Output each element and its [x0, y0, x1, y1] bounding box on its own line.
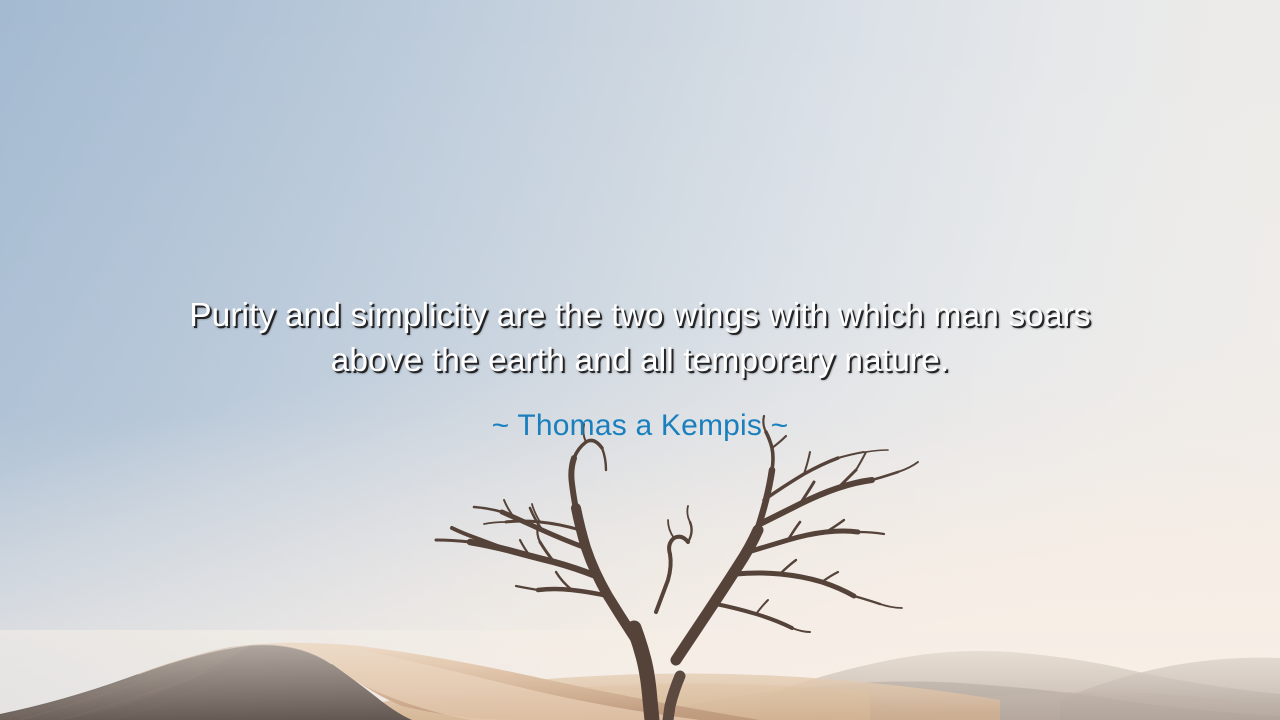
quote-wallpaper: Purity and simplicity are the two wings … — [0, 0, 1280, 720]
quote-attribution: ~ Thomas a Kempis ~ — [0, 406, 1280, 446]
quote-text-block: Purity and simplicity are the two wings … — [0, 293, 1280, 383]
quote-line-1: Purity and simplicity are the two wings … — [0, 293, 1280, 338]
quote-line-2: above the earth and all temporary nature… — [0, 338, 1280, 383]
